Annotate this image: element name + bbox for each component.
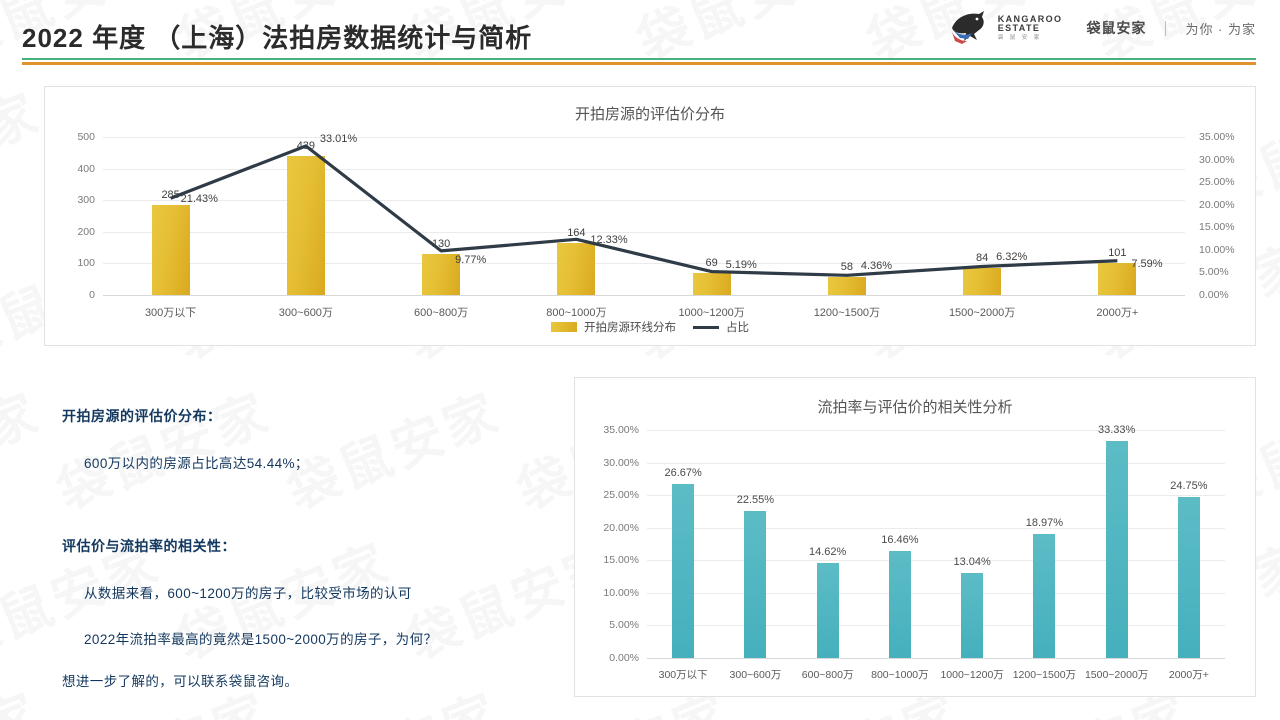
- bar-column: [744, 511, 766, 658]
- watermark-text: 袋鼠安家: [0, 71, 50, 224]
- x-axis-tick: 600~800万: [381, 304, 501, 320]
- x-axis-tick: 800~1000万: [860, 667, 940, 682]
- bar-column: [1033, 534, 1055, 658]
- line-percentage-label: 33.01%: [320, 133, 357, 145]
- y-axis-tick: 10.00%: [587, 587, 639, 599]
- page-title: 2022 年度 （上海）法拍房数据统计与简析: [22, 18, 532, 55]
- x-axis-tick: 1000~1200万: [932, 667, 1012, 682]
- y-axis-left-tick: 300: [51, 194, 95, 206]
- chart-plot-area-top: 01002003004005000.00%5.00%10.00%15.00%20…: [103, 137, 1185, 295]
- y-axis-right-tick: 20.00%: [1199, 199, 1249, 211]
- y-axis-tick: 5.00%: [587, 619, 639, 631]
- brand-logo: KANGAROO ESTATE 袋 鼠 安 家 袋鼠安家 为你 · 为家: [946, 8, 1256, 48]
- percentage-line-series: [103, 137, 1185, 295]
- kangaroo-logo-icon: [946, 8, 990, 48]
- gridline: [647, 528, 1225, 529]
- header-rule-orange: [22, 62, 1256, 65]
- x-axis-tick: 300万以下: [111, 304, 231, 320]
- bar-value-label: 18.97%: [1009, 517, 1079, 529]
- brand-slogan: 为你 · 为家: [1185, 19, 1256, 38]
- y-axis-right-tick: 30.00%: [1199, 154, 1249, 166]
- bar-column: [1106, 441, 1128, 658]
- y-axis-right-tick: 35.00%: [1199, 131, 1249, 143]
- line-percentage-label: 21.43%: [181, 193, 218, 205]
- brand-logo-cn-small: 袋 鼠 安 家: [998, 36, 1063, 42]
- chart-legend-top: 开拍房源环线分布 占比: [45, 319, 1255, 335]
- gridline: [647, 593, 1225, 594]
- bar-column: [672, 484, 694, 658]
- line-percentage-label: 4.36%: [861, 260, 892, 272]
- y-axis-tick: 15.00%: [587, 554, 639, 566]
- x-axis-tick: 2000万+: [1057, 304, 1177, 320]
- notes-section2-heading: 评估价与流拍率的相关性：: [62, 536, 532, 556]
- line-percentage-label: 12.33%: [590, 234, 627, 246]
- legend-swatch-bar-icon: [551, 322, 577, 332]
- line-percentage-label: 5.19%: [726, 259, 757, 271]
- y-axis-right-tick: 25.00%: [1199, 176, 1249, 188]
- x-axis-tick: 300万以下: [643, 667, 723, 682]
- x-axis-tick: 600~800万: [788, 667, 868, 682]
- analysis-notes: 开拍房源的评估价分布： 600万以内的房源占比高达54.44%； 评估价与流拍率…: [62, 406, 532, 690]
- bar-value-label: 33.33%: [1082, 424, 1152, 436]
- bar-column: [1178, 497, 1200, 658]
- y-axis-left-tick: 200: [51, 226, 95, 238]
- y-axis-left-tick: 400: [51, 163, 95, 175]
- line-percentage-label: 9.77%: [455, 254, 486, 266]
- x-axis-tick: 1500~2000万: [1077, 667, 1157, 682]
- bar-value-label: 26.67%: [648, 467, 718, 479]
- bar-value-label: 22.55%: [720, 494, 790, 506]
- legend-swatch-line-icon: [693, 326, 719, 329]
- bar-column: [961, 573, 983, 658]
- y-axis-tick: 20.00%: [587, 522, 639, 534]
- notes-section2-line1: 从数据来看，600~1200万的房子，比较受市场的认可: [84, 582, 532, 602]
- chart-plot-area-bottom: 0.00%5.00%10.00%15.00%20.00%25.00%30.00%…: [647, 430, 1225, 658]
- y-axis-tick: 0.00%: [587, 652, 639, 664]
- bar-value-label: 24.75%: [1154, 480, 1224, 492]
- y-axis-tick: 25.00%: [587, 489, 639, 501]
- watermark-text: 袋鼠安家: [0, 671, 50, 720]
- x-axis-tick: 1200~1500万: [1004, 667, 1084, 682]
- y-axis-right-tick: 15.00%: [1199, 221, 1249, 233]
- bar-value-label: 14.62%: [793, 546, 863, 558]
- bar-column: [817, 563, 839, 658]
- bar-value-label: 13.04%: [937, 556, 1007, 568]
- notes-section1-line1: 600万以内的房源占比高达54.44%；: [84, 452, 532, 472]
- gridline: [647, 560, 1225, 561]
- brand-logo-en-line2: ESTATE: [998, 24, 1063, 33]
- y-axis-right-tick: 0.00%: [1199, 289, 1249, 301]
- notes-section1-heading: 开拍房源的评估价分布：: [62, 406, 532, 426]
- y-axis-tick: 35.00%: [587, 424, 639, 436]
- chart-card-failure-rate-correlation: 流拍率与评估价的相关性分析 0.00%5.00%10.00%15.00%20.0…: [574, 377, 1256, 697]
- notes-section2-line3: 想进一步了解的，可以联系袋鼠咨询。: [62, 670, 532, 690]
- y-axis-left-tick: 0: [51, 289, 95, 301]
- y-axis-left-tick: 100: [51, 257, 95, 269]
- x-axis-tick: 1500~2000万: [922, 304, 1042, 320]
- x-axis-tick: 300~600万: [715, 667, 795, 682]
- y-axis-left-tick: 500: [51, 131, 95, 143]
- x-axis-tick: 1000~1200万: [652, 304, 772, 320]
- y-axis-right-tick: 10.00%: [1199, 244, 1249, 256]
- bar-value-label: 16.46%: [865, 534, 935, 546]
- y-axis-right-tick: 5.00%: [1199, 266, 1249, 278]
- x-axis-line: [103, 295, 1185, 296]
- x-axis-tick: 300~600万: [246, 304, 366, 320]
- chart-title-bottom: 流拍率与评估价的相关性分析: [575, 396, 1255, 417]
- watermark-text: 袋鼠安家: [0, 371, 50, 524]
- chart-title-top: 开拍房源的评估价分布: [45, 103, 1255, 124]
- header-rule-green: [22, 58, 1256, 60]
- line-percentage-label: 6.32%: [996, 251, 1027, 263]
- brand-name-cn: 袋鼠安家: [1086, 18, 1146, 38]
- y-axis-tick: 30.00%: [587, 457, 639, 469]
- x-axis-tick: 800~1000万: [516, 304, 636, 320]
- chart-card-evaluation-distribution: 开拍房源的评估价分布 01002003004005000.00%5.00%10.…: [44, 86, 1256, 346]
- brand-logo-text: KANGAROO ESTATE 袋 鼠 安 家: [998, 15, 1063, 42]
- legend-label-line: 占比: [726, 319, 749, 335]
- gridline: [647, 625, 1225, 626]
- notes-section2-line2: 2022年流拍率最高的竟然是1500~2000万的房子，为何？: [84, 628, 532, 648]
- bar-column: [889, 551, 911, 658]
- x-axis-line: [647, 658, 1225, 659]
- x-axis-tick: 1200~1500万: [787, 304, 907, 320]
- x-axis-tick: 2000万+: [1149, 667, 1229, 682]
- line-percentage-label: 7.59%: [1131, 258, 1162, 270]
- brand-divider: [1165, 21, 1166, 36]
- legend-label-bar: 开拍房源环线分布: [584, 319, 676, 335]
- gridline: [647, 463, 1225, 464]
